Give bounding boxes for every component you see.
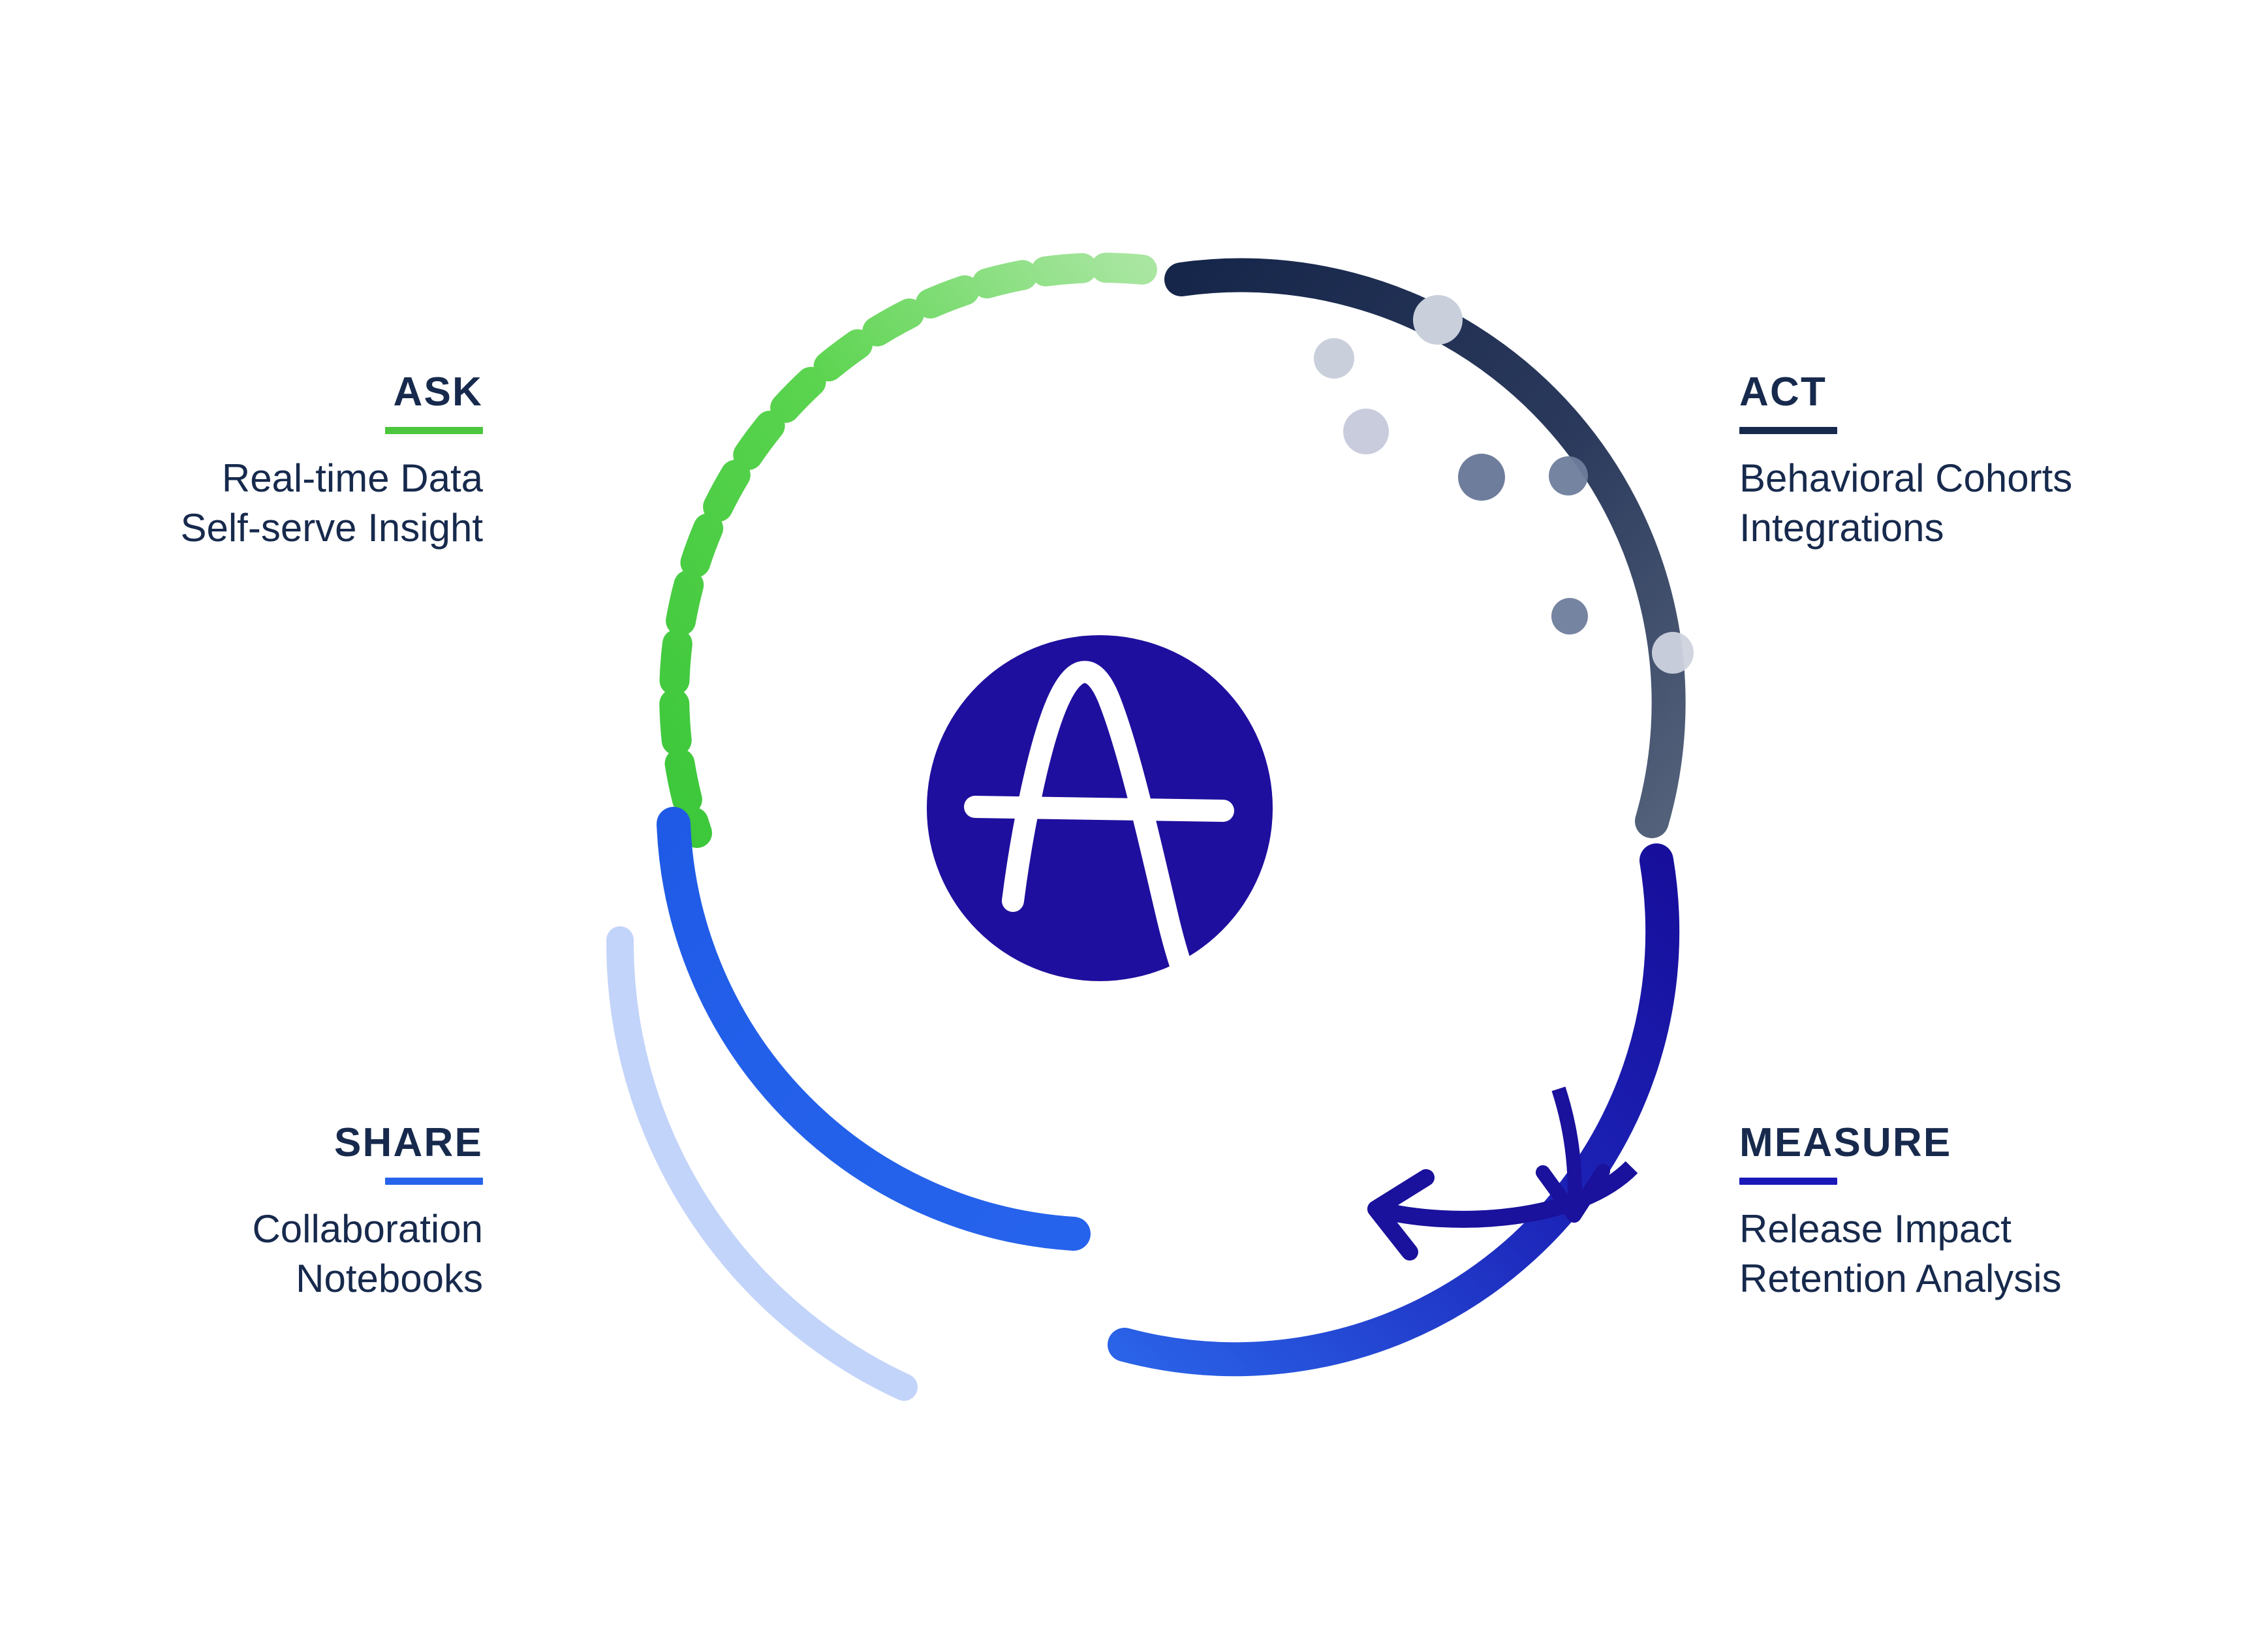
quadrant-desc-act-line-2: Integrations [1739, 503, 2072, 553]
quadrant-rule-share [385, 1178, 483, 1185]
cycle-ring-graphic [0, 0, 2268, 1630]
quadrant-desc-act-line-1: Behavioral Cohorts [1739, 454, 2072, 503]
quadrant-label-act: ACT Behavioral Cohorts Integrations [1739, 372, 2072, 553]
scatter-dot [1314, 338, 1354, 379]
quadrant-title-share: SHARE [252, 1123, 483, 1163]
quadrant-title-measure: MEASURE [1739, 1123, 2062, 1163]
quadrant-desc-share-line-1: Collaboration [252, 1204, 483, 1254]
quadrant-title-ask: ASK [180, 372, 483, 413]
amplitude-logo [927, 635, 1273, 1013]
quadrant-desc-measure-line-1: Release Impact [1739, 1204, 2062, 1254]
scatter-dot [1458, 454, 1505, 501]
logo-crossbar [975, 807, 1223, 811]
quadrant-desc-ask-line-1: Real-time Data [180, 454, 483, 503]
scatter-dot [1551, 598, 1588, 635]
quadrant-label-share: SHARE Collaboration Notebooks [252, 1123, 483, 1304]
quadrant-rule-ask [385, 427, 483, 434]
quadrant-desc-ask-line-2: Self-serve Insight [180, 503, 483, 553]
quadrant-rule-measure [1739, 1178, 1837, 1185]
quadrant-title-act: ACT [1739, 372, 2072, 413]
scatter-dot [1549, 456, 1588, 495]
quadrant-desc-share-line-2: Notebooks [252, 1254, 483, 1304]
quadrant-desc-measure-line-2: Retention Analysis [1739, 1254, 2062, 1304]
scatter-dot [1413, 295, 1463, 345]
quadrant-rule-act [1739, 427, 1837, 434]
quadrant-label-measure: MEASURE Release Impact Retention Analysi… [1739, 1123, 2062, 1304]
quadrant-label-ask: ASK Real-time Data Self-serve Insight [180, 372, 483, 553]
scatter-dot [1652, 632, 1694, 674]
diagram-canvas: ASK Real-time Data Self-serve Insight AC… [0, 0, 2268, 1630]
scatter-dot [1343, 409, 1389, 454]
